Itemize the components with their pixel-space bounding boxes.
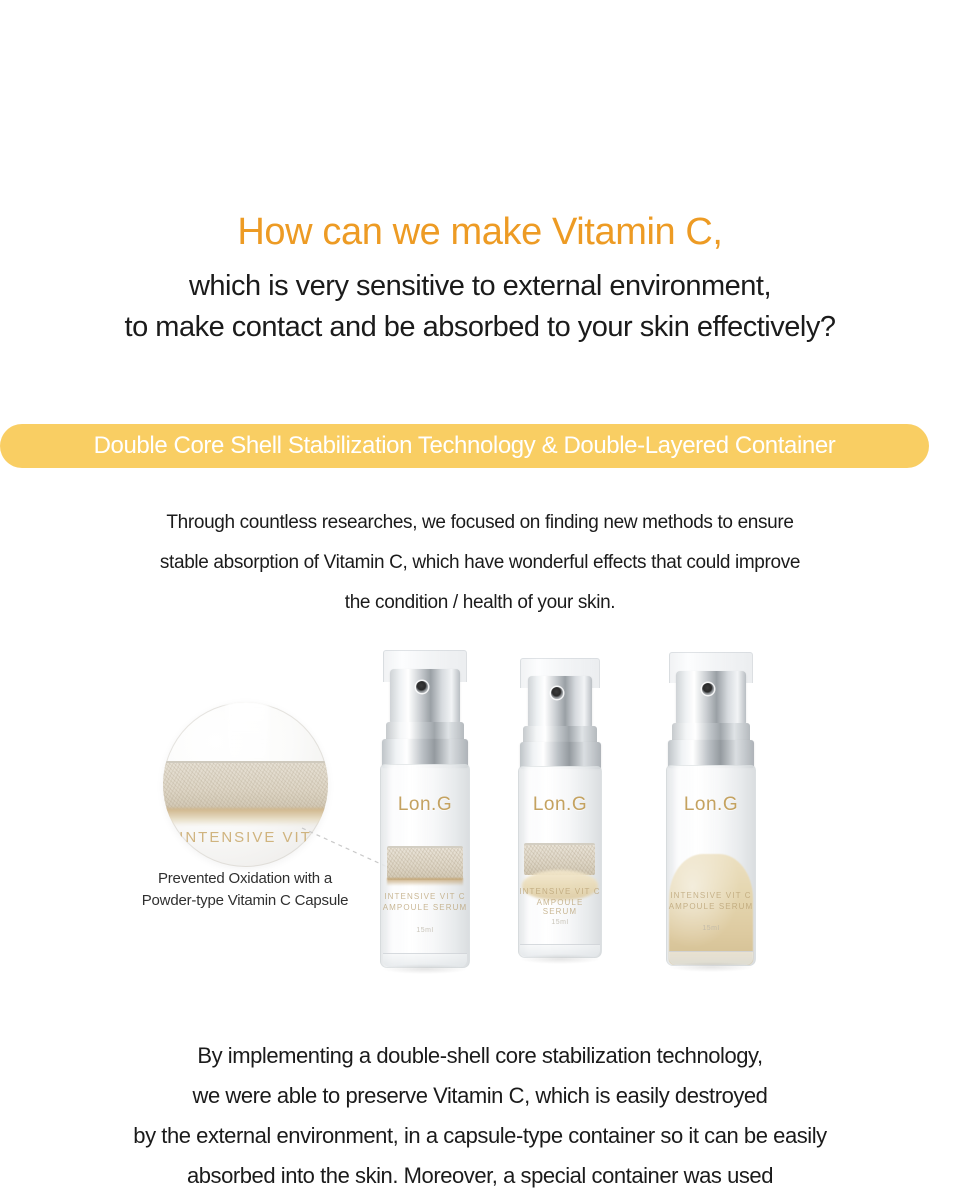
product-bottle-2: Lon.G INTENSIVE VIT C AMPOULE SERUM 15ml — [515, 658, 605, 958]
magnified-label-text: INTENSIVE VIT — [163, 829, 328, 846]
technology-banner: Double Core Shell Stabilization Technolo… — [0, 424, 929, 468]
page-title: How can we make Vitamin C, — [0, 206, 960, 258]
magnified-serum-pool — [163, 808, 328, 826]
headline-subline-1: which is very sensitive to external envi… — [0, 266, 960, 307]
bottle-label-line-1: INTENSIVE VIT C — [667, 891, 755, 900]
bottle-label-line-1: INTENSIVE VIT C — [381, 892, 469, 901]
magnifier-caption-line-1: Prevented Oxidation with a — [90, 868, 400, 890]
capsule-magnifier: INTENSIVE VIT — [163, 702, 328, 867]
outro-line-4: absorbed into the skin. Moreover, a spec… — [0, 1156, 960, 1196]
magnifier-caption: Prevented Oxidation with a Powder-type V… — [90, 868, 400, 912]
pump-collar-lower — [520, 742, 601, 769]
outro-line-2: we were able to preserve Vitamin C, whic… — [0, 1076, 960, 1116]
bottle-volume-label: 15ml — [667, 925, 755, 932]
capsule-serum-pool — [387, 878, 463, 886]
pump-head — [390, 669, 459, 723]
pump-collar-lower — [382, 739, 468, 768]
bottle-body: Lon.G INTENSIVE VIT C AMPOULE SERUM 15ml — [518, 766, 603, 958]
pump-head — [528, 676, 593, 727]
bottle-body: Lon.G INTENSIVE VIT C AMPOULE SERUM 15ml — [666, 765, 756, 966]
technology-banner-label: Double Core Shell Stabilization Technolo… — [94, 432, 836, 460]
magnifier-caption-line-2: Powder-type Vitamin C Capsule — [90, 890, 400, 912]
intro-line-3: the condition / health of your skin. — [0, 583, 960, 623]
product-bottle-3: Lon.G INTENSIVE VIT C AMPOULE SERUM 15ml — [663, 652, 759, 966]
bottle-shadow — [669, 962, 753, 972]
bottle-product-label: INTENSIVE VIT C AMPOULE SERUM — [381, 892, 469, 912]
bottle-product-label: INTENSIVE VIT C AMPOULE SERUM — [667, 891, 755, 911]
headline-subline-2: to make contact and be absorbed to your … — [0, 307, 960, 348]
magnified-powder-band — [163, 761, 328, 812]
product-scene: INTENSIVE VIT Prevented Oxidation with a… — [0, 640, 960, 1000]
bottle-shadow — [520, 954, 599, 964]
bottle-brand-label: Lon.G — [667, 794, 755, 816]
bottle-body: Lon.G INTENSIVE VIT C AMPOULE SERUM 15ml — [380, 764, 470, 968]
bottle-volume-label: 15ml — [519, 919, 602, 926]
powder-capsule-band — [387, 846, 463, 880]
bottle-brand-label: Lon.G — [381, 794, 469, 816]
intro-paragraph: Through countless researches, we focused… — [0, 503, 960, 623]
product-bottle-1: Lon.G INTENSIVE VIT C AMPOULE SERUM 15ml — [377, 650, 473, 968]
pump-head — [676, 671, 745, 724]
bottle-label-line-1: INTENSIVE VIT C — [519, 887, 602, 896]
pump-collar-lower — [668, 740, 754, 768]
outro-line-3: by the external environment, in a capsul… — [0, 1116, 960, 1156]
bottle-brand-label: Lon.G — [519, 794, 602, 816]
product-detail-page: How can we make Vitamin C, which is very… — [0, 0, 960, 1201]
headline-block: How can we make Vitamin C, which is very… — [0, 206, 960, 348]
pump-nozzle-icon — [702, 683, 714, 695]
bottle-label-line-2: AMPOULE SERUM — [519, 898, 602, 916]
bottle-label-line-2: AMPOULE SERUM — [667, 902, 755, 911]
bottle-volume-label: 15ml — [381, 927, 469, 934]
intro-line-1: Through countless researches, we focused… — [0, 503, 960, 543]
outro-paragraph: By implementing a double-shell core stab… — [0, 1036, 960, 1196]
bottle-product-label: INTENSIVE VIT C AMPOULE SERUM — [519, 887, 602, 916]
outro-line-1: By implementing a double-shell core stab… — [0, 1036, 960, 1076]
intro-line-2: stable absorption of Vitamin C, which ha… — [0, 543, 960, 583]
bottle-label-line-2: AMPOULE SERUM — [381, 903, 469, 912]
bottle-shadow — [383, 964, 467, 974]
